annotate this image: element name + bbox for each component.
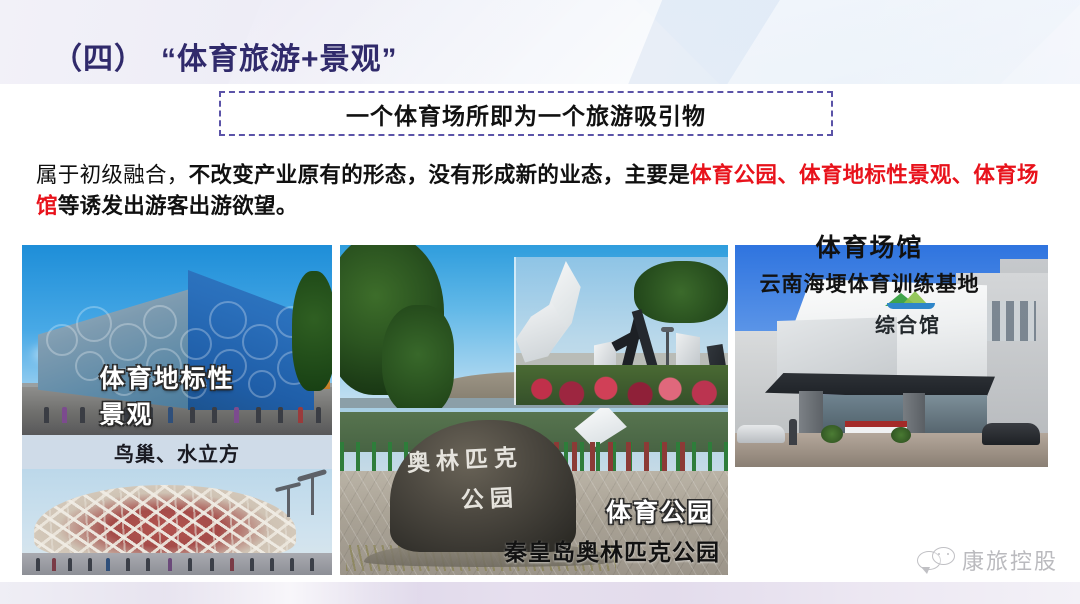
white-car	[737, 425, 785, 443]
street-lamp	[666, 331, 669, 367]
photo-overlay-subcaption-park: 秦皇岛奥林匹克公园	[504, 533, 720, 567]
dark-car	[982, 423, 1040, 445]
body-lead-plain: 属于初级融合，	[36, 163, 189, 187]
stadium-lattice-shell	[34, 485, 296, 557]
olympic-park-stone-photo: 奥林匹克 公园 体育公园 秦皇岛奥林匹克公园	[340, 408, 728, 575]
crowd-group	[22, 553, 332, 571]
right-caption-text: 体育场馆	[713, 228, 1026, 264]
right-column-captions: 体育场馆 云南海埂体育训练基地	[713, 228, 1026, 298]
building-sign-text: 综合馆	[875, 309, 941, 338]
water-cube-photo: 体育地标性景观	[22, 245, 332, 435]
stone-carving-line-2: 公园	[460, 476, 560, 521]
page-title-text: “体育旅游+景观”	[161, 43, 398, 76]
body-lead-bold: 不改变产业原有的形态，没有形成新的业态，主要是	[189, 163, 690, 187]
bottom-decorative-band	[0, 582, 1080, 604]
watermark: 康旅控股	[917, 544, 1058, 576]
body-tail-bold: 等诱发出游客出游欲望。	[58, 194, 298, 218]
headline-box: 一个体育场所即为一个旅游吸引物	[219, 91, 833, 136]
flower-bed	[516, 365, 728, 405]
page-title: （四）“体育旅游+景观”	[52, 34, 398, 78]
watermark-text: 康旅控股	[962, 544, 1058, 576]
olympic-park-sculpture-photo	[340, 245, 728, 408]
photo-column-left: 体育地标性景观 鸟巢、水立方	[22, 245, 332, 575]
left-caption-band: 鸟巢、水立方	[22, 435, 332, 469]
left-band-caption-text: 鸟巢、水立方	[114, 438, 240, 467]
bottom-band-sheen	[160, 582, 420, 604]
street-lamp-secondary	[287, 487, 290, 517]
photo-overlay-caption-landmark: 体育地标性景观	[100, 359, 255, 431]
shrub-shape-b	[891, 427, 911, 443]
slide-root: （四）“体育旅游+景观” 一个体育场所即为一个旅游吸引物 属于初级融合，不改变产…	[0, 0, 1080, 604]
right-subcaption-text: 云南海埂体育训练基地	[713, 268, 1026, 298]
tree-shape	[292, 271, 332, 391]
photo-overlay-caption-park: 体育公园	[606, 493, 714, 529]
pedestrian-figure	[789, 419, 797, 445]
headline-text: 一个体育场所即为一个旅游吸引物	[346, 97, 706, 131]
wechat-bubbles-icon	[917, 547, 955, 573]
photo-column-middle: 奥林匹克 公园 体育公园 秦皇岛奥林匹克公园	[340, 245, 728, 575]
birds-nest-stadium-photo	[22, 469, 332, 575]
inset-sculpture-photo	[514, 257, 728, 405]
shrub-shape-a	[821, 425, 843, 443]
stone-carving-line-1: 奥林匹克	[406, 445, 523, 476]
body-paragraph: 属于初级融合，不改变产业原有的形态，没有形成新的业态，主要是体育公园、体育地标性…	[36, 160, 1046, 222]
stone-carving: 奥林匹克 公园	[406, 436, 560, 526]
street-lamp	[311, 475, 314, 515]
page-title-number: （四）	[52, 43, 145, 76]
tree-shape-secondary	[382, 305, 454, 408]
